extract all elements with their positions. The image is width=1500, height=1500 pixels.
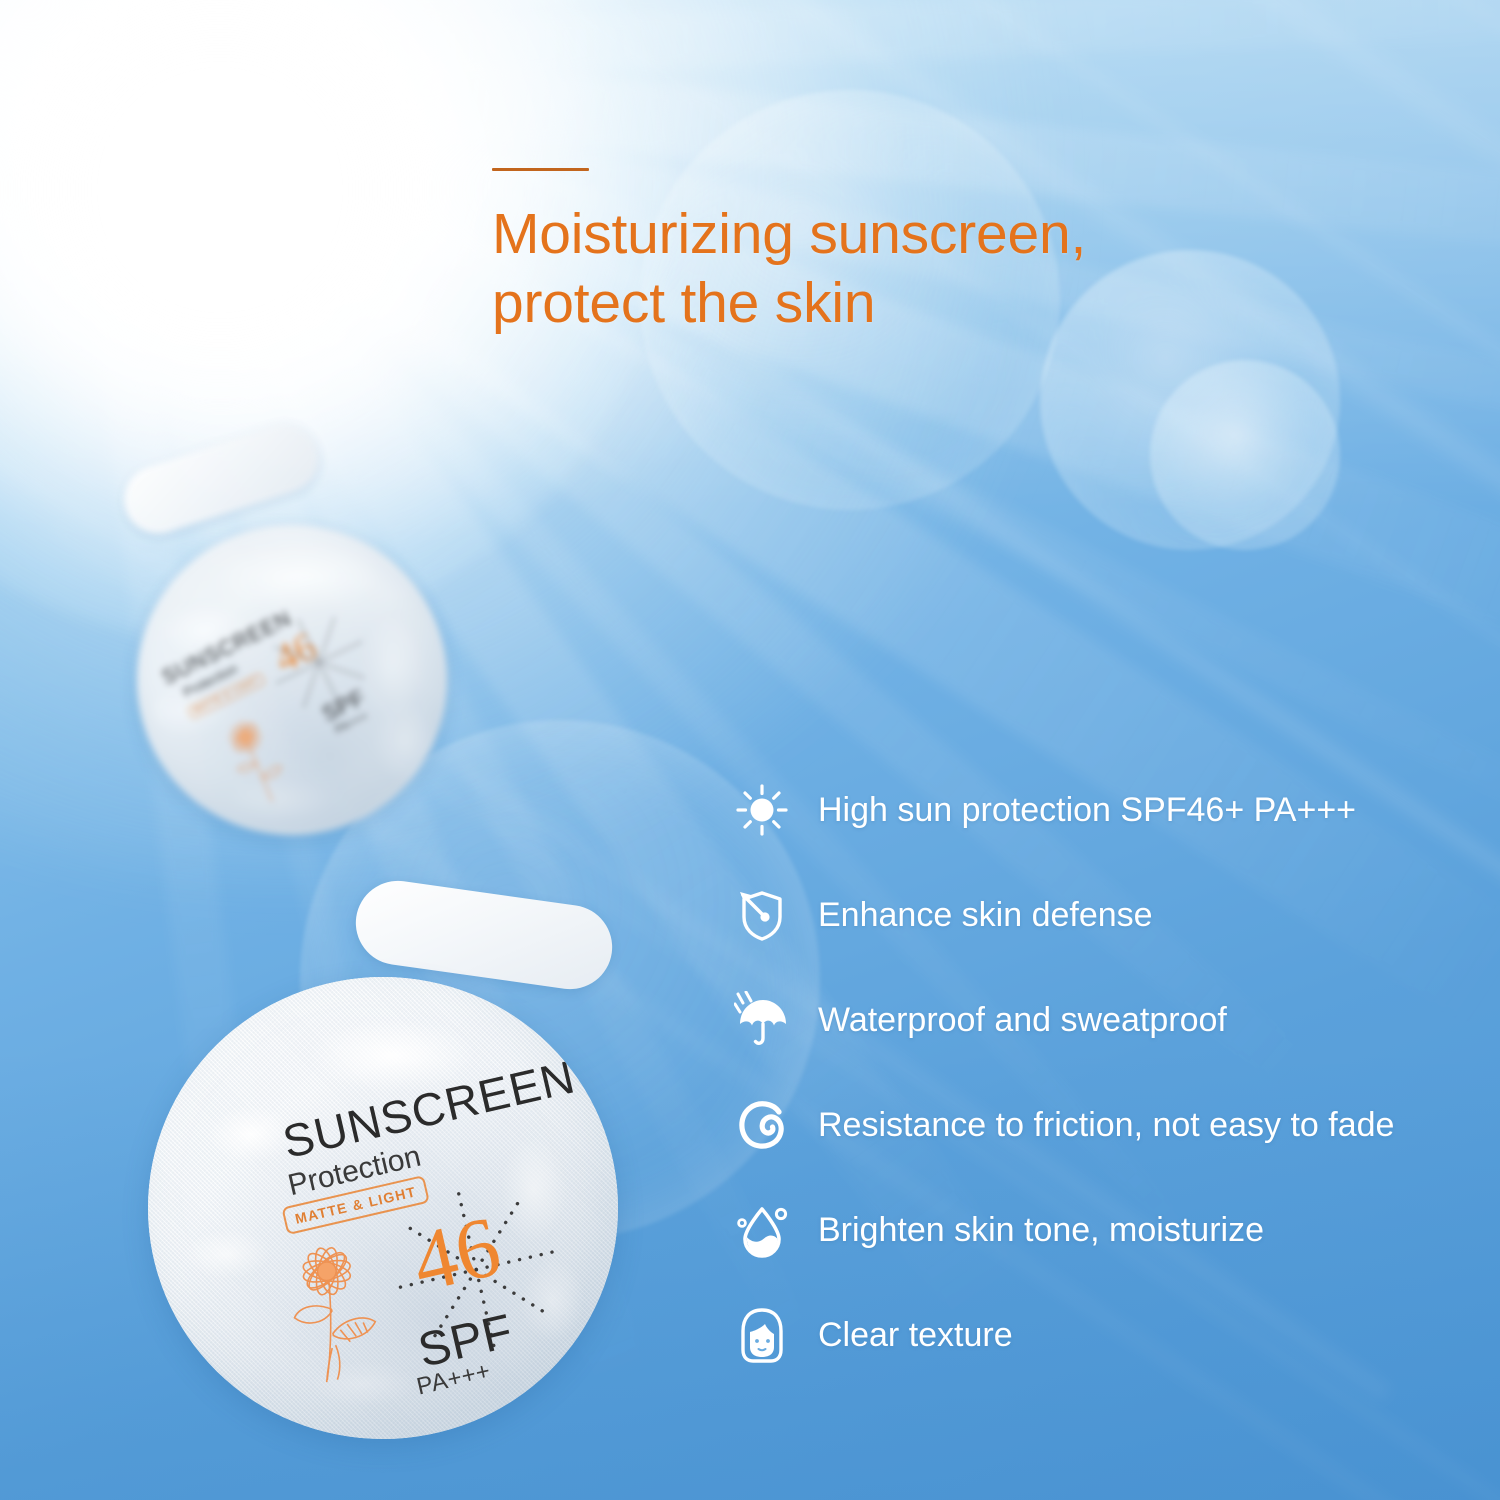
headline-block: Moisturizing sunscreen, protect the skin [492, 168, 1086, 338]
page-title: Moisturizing sunscreen, protect the skin [492, 200, 1086, 338]
feature-list: High sun protection SPF46+ PA+++ Enhance… [733, 779, 1394, 1366]
brand-name: SUNSCREEN [278, 1049, 580, 1169]
feature-item: Clear texture [733, 1304, 1394, 1366]
swirl-icon [733, 1096, 791, 1154]
face-icon [733, 1306, 791, 1364]
sachet-front: SUNSCREEN Protection MATTE & LIGHT [140, 885, 630, 1455]
feature-label: Brighten skin tone, moisturize [818, 1210, 1264, 1250]
sachet-disc: SUNSCREEN Protection MATTE & LIGHT [137, 525, 447, 835]
feature-label: High sun protection SPF46+ PA+++ [818, 790, 1356, 830]
feature-item: Resistance to friction, not easy to fade [733, 1094, 1394, 1156]
accent-rule [492, 168, 589, 171]
droplet-icon [733, 1201, 791, 1259]
feature-label: Resistance to friction, not easy to fade [818, 1105, 1394, 1145]
sachet-disc: SUNSCREEN Protection MATTE & LIGHT [148, 977, 618, 1439]
feature-label: Waterproof and sweatproof [818, 1000, 1227, 1040]
feature-label: Enhance skin defense [818, 895, 1153, 935]
feature-item: Enhance skin defense [733, 884, 1394, 946]
feature-item: High sun protection SPF46+ PA+++ [733, 779, 1394, 841]
sun-icon [733, 781, 791, 839]
sachet-back: SUNSCREEN Protection MATTE & LIGHT [115, 440, 515, 860]
product-banner: SUNSCREEN Protection MATTE & LIGHT [0, 0, 1500, 1500]
umbrella-icon [733, 991, 791, 1049]
shield-icon [733, 886, 791, 944]
feature-item: Brighten skin tone, moisturize [733, 1199, 1394, 1261]
product-label: SUNSCREEN Protection MATTE & LIGHT [137, 525, 447, 835]
feature-item: Waterproof and sweatproof [733, 989, 1394, 1051]
feature-label: Clear texture [818, 1315, 1013, 1355]
product-label: SUNSCREEN Protection MATTE & LIGHT [148, 977, 618, 1439]
